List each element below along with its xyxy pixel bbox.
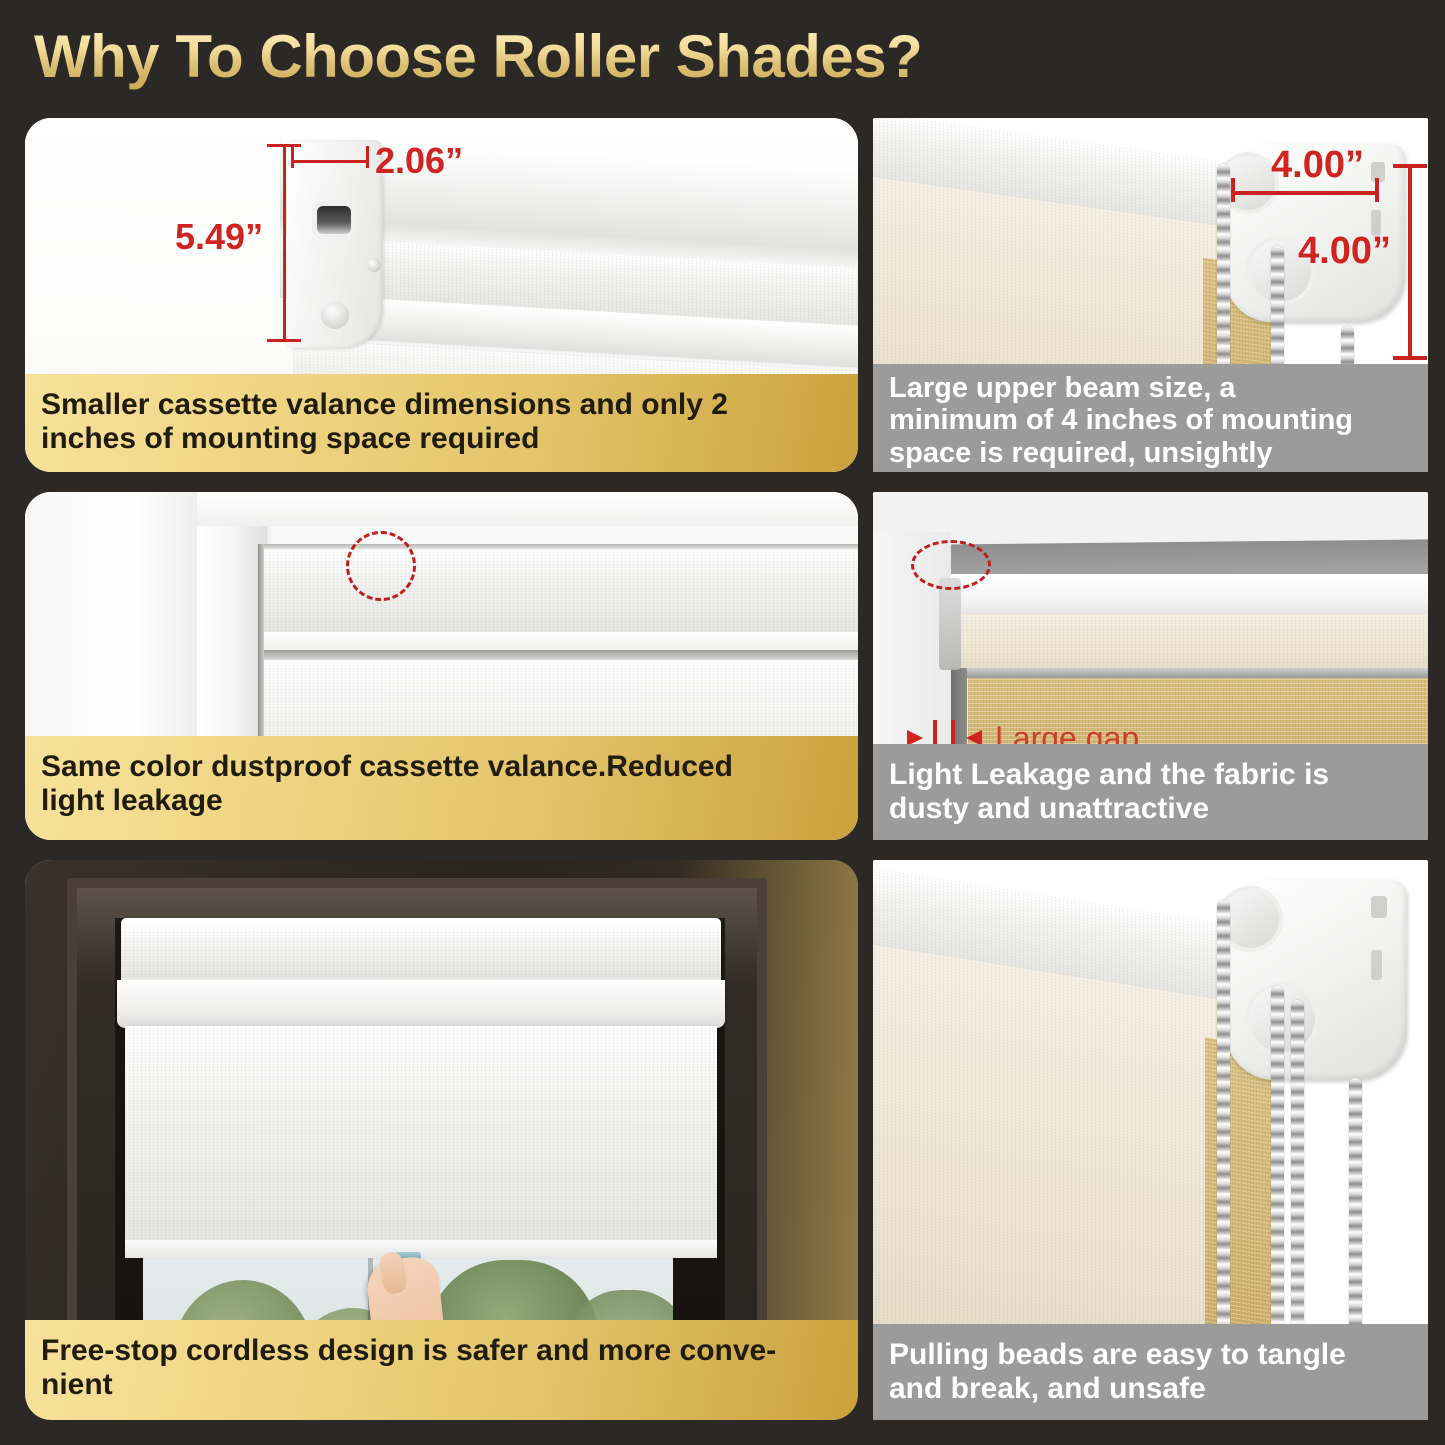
width-dimension-line <box>1231 191 1379 195</box>
gap-highlight-ellipse <box>911 540 991 590</box>
height-dimension-line <box>1408 164 1412 360</box>
shade-fabric <box>125 1026 717 1248</box>
caption-line: Smaller cassette valance dimensions and … <box>41 388 728 422</box>
caption-dustproof-cassette-valance: Same color dustproof cassette valance.Re… <box>25 736 858 840</box>
bead-chain[interactable] <box>1271 986 1284 1370</box>
width-dimension-line <box>291 160 369 163</box>
caption-line: Large upper beam size, a <box>889 372 1353 404</box>
caption-line: Same color dustproof cassette valance.Re… <box>41 750 733 784</box>
caption-line: nient <box>41 1368 776 1402</box>
caption-cassette-valance-dimensions: Smaller cassette valance dimensions and … <box>25 374 858 472</box>
caption-pulling-beads-tangle: Pulling beads are easy to tangle and bre… <box>873 1324 1428 1420</box>
panel-pulling-beads-tangle: Pulling beads are easy to tangle and bre… <box>873 860 1428 1420</box>
panel-large-upper-beam: 4.00” 4.00” Large upper beam size, a min… <box>873 118 1428 472</box>
bead-chain[interactable] <box>1217 900 1230 1370</box>
page-title: Why To Choose Roller Shades? <box>34 22 922 91</box>
caption-line: Free-stop cordless design is safer and m… <box>41 1334 776 1368</box>
caption-line: space is required, unsightly <box>889 437 1353 469</box>
panel-free-stop-cordless-design: Free-stop cordless design is safer and m… <box>25 860 858 1420</box>
caption-free-stop-cordless-design: Free-stop cordless design is safer and m… <box>25 1320 858 1420</box>
height-dimension-label: 4.00” <box>1298 230 1391 273</box>
caption-line: Pulling beads are easy to tangle <box>889 1338 1346 1372</box>
seam-highlight-circle <box>346 531 416 601</box>
height-dimension-line <box>283 144 286 342</box>
caption-line: inches of mounting space required <box>41 422 728 456</box>
caption-line: Light Leakage and the fabric is <box>889 758 1329 792</box>
bottom-rail <box>125 1240 717 1258</box>
caption-light-leakage-dusty-fabric: Light Leakage and the fabric is dusty an… <box>873 744 1428 840</box>
panel-light-leakage-dusty-fabric: Large gap Light Leakage and the fabric i… <box>873 492 1428 840</box>
caption-large-upper-beam: Large upper beam size, a minimum of 4 in… <box>873 364 1428 472</box>
panel-cassette-valance-dimensions: 5.49” 2.06” Smaller cassette valance dim… <box>25 118 858 472</box>
bead-chain[interactable] <box>1291 1000 1304 1370</box>
caption-line: minimum of 4 inches of mounting <box>889 404 1353 436</box>
panel-dustproof-cassette-valance: smaller gap Same color dustproof cassett… <box>25 492 858 840</box>
caption-line: and break, and unsafe <box>889 1372 1346 1406</box>
height-dimension-label: 5.49” <box>175 216 263 258</box>
width-dimension-label: 4.00” <box>1271 144 1364 187</box>
caption-line: dusty and unattractive <box>889 792 1329 826</box>
page-header: Why To Choose Roller Shades? <box>0 0 1445 112</box>
width-dimension-label: 2.06” <box>375 140 463 182</box>
caption-line: light leakage <box>41 784 733 818</box>
